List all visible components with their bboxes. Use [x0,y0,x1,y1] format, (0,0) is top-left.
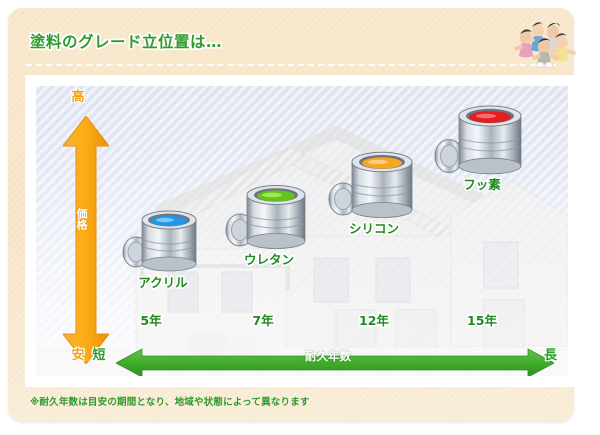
year-label-acrylic: 5年 [128,310,174,329]
data-point-acrylic: アクリル [120,206,206,296]
title-divider [26,64,556,66]
data-point-fluorine: フッ素 [432,102,532,202]
durability-short-label: 短 [84,344,114,363]
data-label-silicon: シリコン [349,218,399,237]
year-label-fluorine: 15年 [456,310,508,329]
footnote-text: ※耐久年数は目安の期間となり、地域や状態によって異なります [30,394,310,408]
data-label-urethane: ウレタン [244,249,294,268]
durability-axis-label: 耐久年数 [248,348,408,364]
page-title: 塗料のグレード立位置は… [30,30,222,52]
data-label-acrylic: アクリル [138,272,187,291]
price-axis-arrow [63,116,109,364]
paint-can-acrylic [120,206,206,278]
price-axis-label: 価格 [68,208,88,230]
durability-long-label: 長 [544,344,574,363]
data-label-fluorine: フッ素 [463,174,501,193]
paint-can-silicon [326,148,422,228]
data-point-silicon: シリコン [326,148,422,244]
year-label-urethane: 7年 [240,310,286,329]
price-high-label: 高 [60,86,96,105]
year-label-silicon: 12年 [348,310,400,329]
paint-can-urethane [223,181,315,257]
data-point-urethane: ウレタン [223,181,315,273]
workers-family-illustration [504,16,580,68]
infographic-card: 塗料のグレード立位置は… [8,8,574,422]
